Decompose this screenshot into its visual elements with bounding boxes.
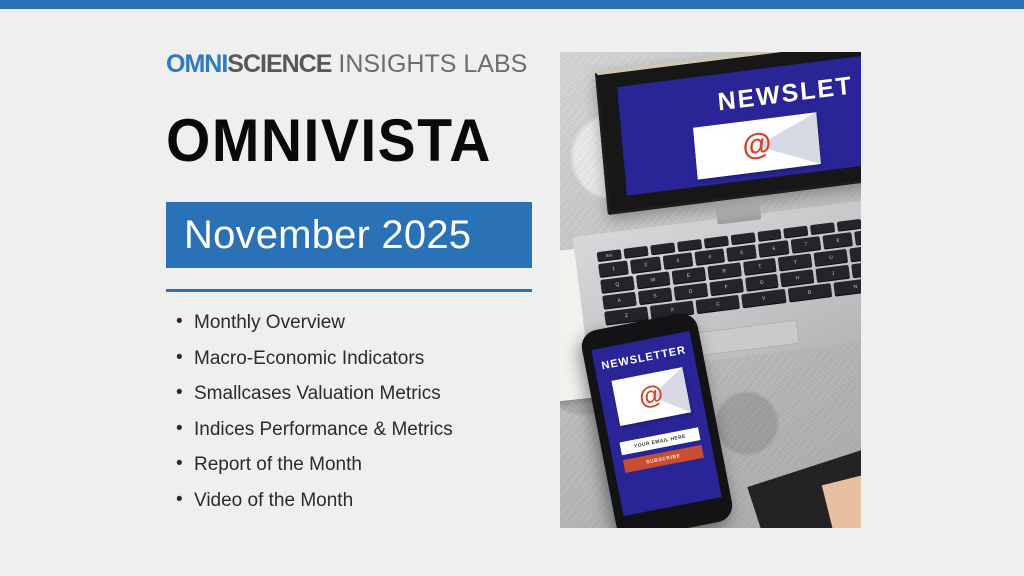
laptop-keyboard: Esc 1 2 3 4 5 6 7 8 9 (597, 212, 861, 337)
envelope-icon: @ (612, 367, 691, 426)
list-item: Smallcases Valuation Metrics (194, 384, 536, 403)
email-field-placeholder: YOUR EMAIL HERE (634, 433, 687, 449)
at-symbol-icon: @ (741, 129, 773, 163)
key (757, 229, 782, 241)
key: E (671, 267, 705, 284)
agenda-item-label: Macro-Economic Indicators (194, 348, 424, 369)
key: U (814, 249, 848, 266)
brand-science: SCIENCE (227, 50, 331, 78)
key: 4 (694, 248, 725, 265)
key: Q (600, 276, 634, 293)
list-item: Indices Performance & Metrics (194, 420, 536, 439)
key: W (636, 271, 670, 288)
page-title: OMNIVISTA (166, 111, 536, 171)
key: B (787, 283, 831, 301)
key: N (833, 277, 861, 295)
date-banner-label: November 2025 (184, 215, 471, 255)
agenda-item-label: Video of the Month (194, 490, 353, 511)
key: S (638, 287, 672, 304)
key: 9 (855, 228, 861, 245)
key: I (849, 244, 861, 261)
key (730, 232, 755, 244)
laptop-lid: NEWSLET @ YOUR EMAIL HERE SUBSCRIBE (595, 52, 861, 215)
top-accent-bar (0, 0, 1024, 9)
key: Y (778, 253, 812, 270)
brand-insights-labs: INSIGHTS LABS (331, 50, 527, 78)
brand-omni: OMNI (166, 50, 227, 78)
key: 6 (758, 240, 789, 257)
key: G (745, 274, 779, 291)
key (677, 239, 702, 251)
key: 1 (598, 260, 629, 277)
at-symbol-icon: @ (637, 381, 666, 410)
brand-lockup: OMNISCIENCE INSIGHTS LABS (166, 52, 536, 77)
key: D (673, 283, 707, 300)
key: 8 (823, 232, 854, 249)
key: F (709, 278, 743, 295)
key: K (851, 260, 861, 277)
key: H (780, 269, 814, 286)
laptop-device: Esc 1 2 3 4 5 6 7 8 9 (588, 52, 861, 348)
key: 3 (662, 252, 693, 269)
key (704, 236, 729, 248)
key (810, 222, 835, 234)
email-field-placeholder: YOUR EMAIL HERE (725, 180, 802, 196)
date-banner: November 2025 (166, 202, 532, 268)
agenda-item-label: Report of the Month (194, 454, 362, 475)
subscribe-button: SUBSCRIBE (681, 191, 851, 196)
key (784, 226, 809, 238)
key: C (696, 295, 740, 313)
key (650, 242, 675, 254)
cover-content: OMNISCIENCE INSIGHTS LABS OMNIVISTA Nove… (166, 52, 536, 526)
subscribe-button-label: SUBSCRIBE (646, 453, 681, 466)
key: V (742, 289, 786, 307)
divider (166, 289, 532, 292)
key: Esc (597, 249, 622, 261)
key (837, 219, 861, 231)
agenda-item-label: Indices Performance & Metrics (194, 419, 453, 440)
laptop-trackpad (694, 320, 800, 357)
key (623, 246, 648, 258)
agenda-item-label: Smallcases Valuation Metrics (194, 383, 441, 404)
phone-screen: NEWSLETTER @ YOUR EMAIL HERE SUBSCRIBE (591, 331, 721, 516)
key: J (816, 265, 850, 282)
list-item: Macro-Economic Indicators (194, 349, 536, 368)
key: R (707, 262, 741, 279)
list-item: Video of the Month (194, 491, 536, 510)
key: 2 (630, 256, 661, 273)
key: 5 (726, 244, 757, 261)
agenda-list: Monthly Overview Macro-Economic Indicato… (166, 313, 536, 510)
list-item: Monthly Overview (194, 313, 536, 332)
envelope-icon: @ (693, 112, 821, 179)
newsletter-heading: NEWSLET (670, 66, 861, 124)
key: 7 (790, 236, 821, 253)
list-item: Report of the Month (194, 455, 536, 474)
laptop-screen: NEWSLET @ YOUR EMAIL HERE SUBSCRIBE (617, 52, 861, 196)
cover-photo: Esc 1 2 3 4 5 6 7 8 9 (560, 52, 861, 528)
agenda-item-label: Monthly Overview (194, 312, 345, 333)
key: A (602, 292, 636, 309)
key: T (743, 258, 777, 275)
